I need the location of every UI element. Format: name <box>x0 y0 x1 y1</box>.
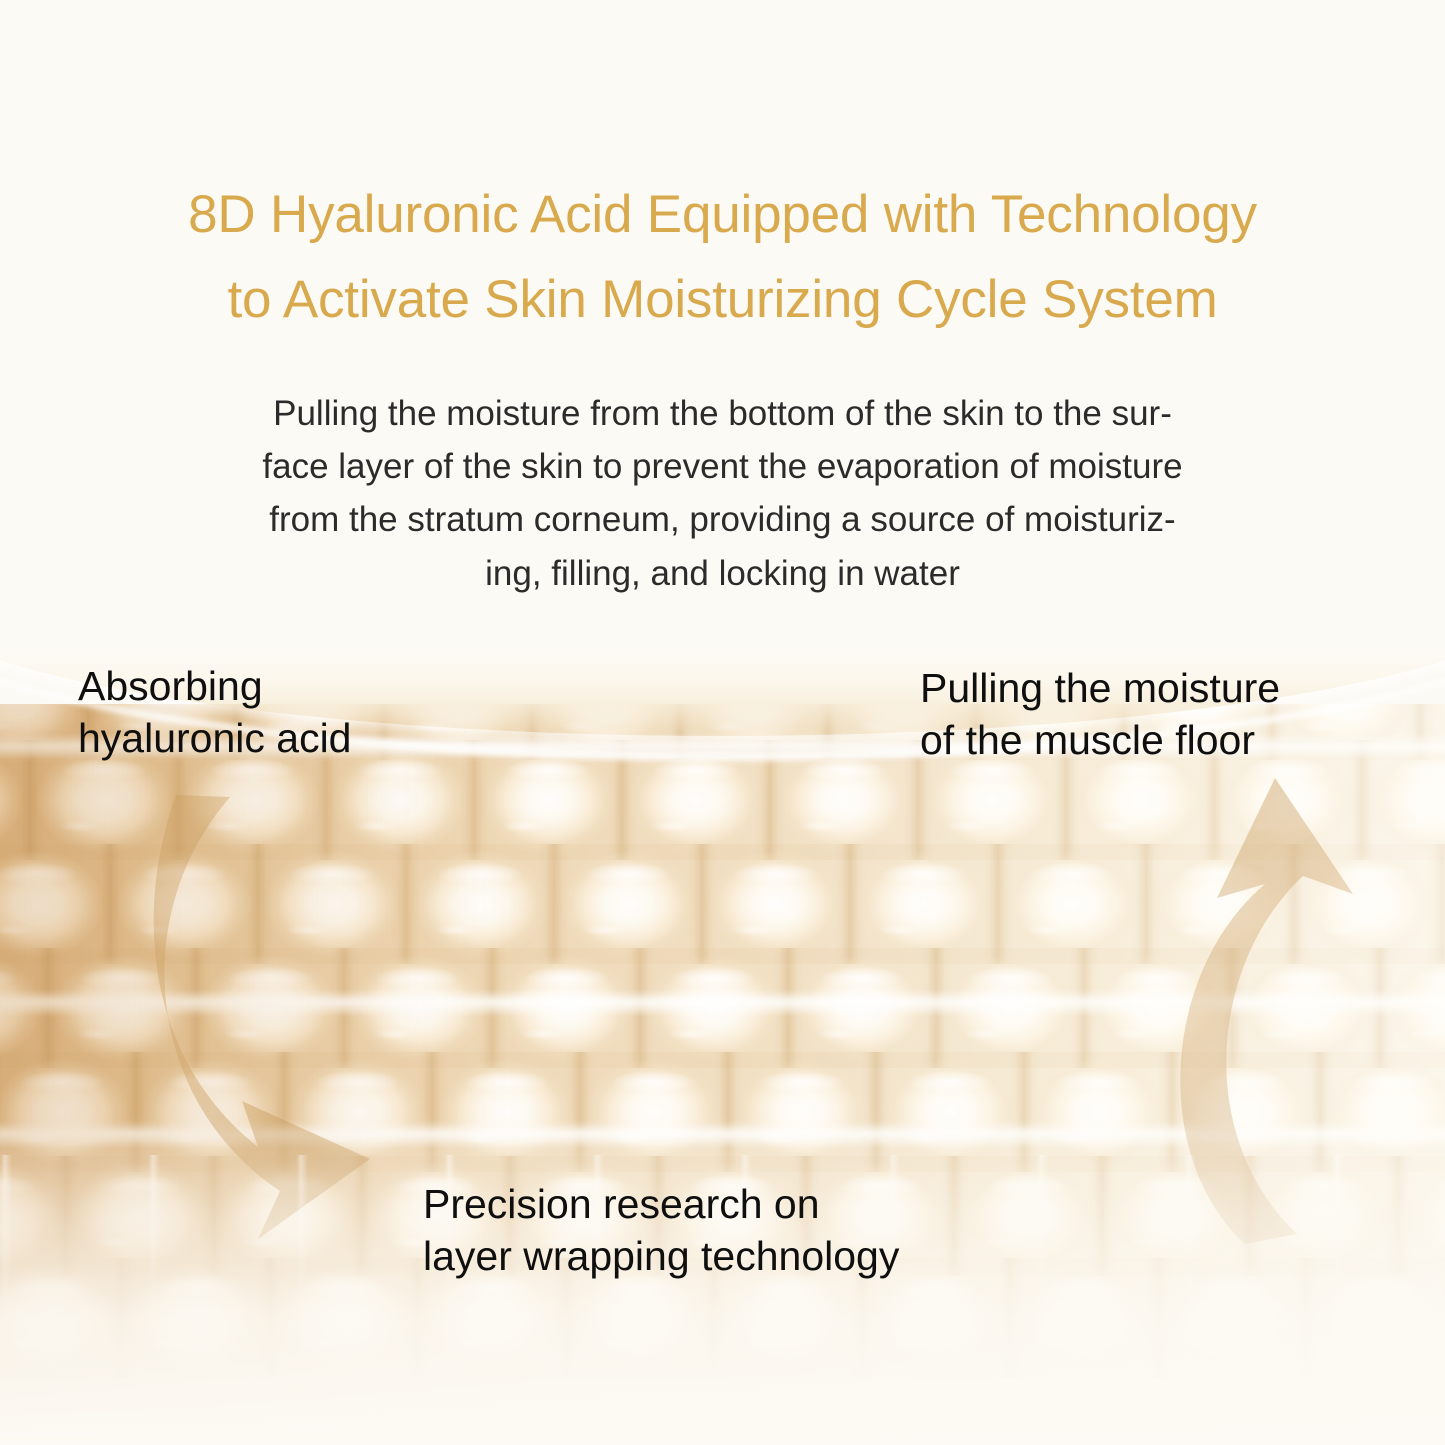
label-precision-research: Precision research on layer wrapping tec… <box>423 1178 899 1283</box>
page-subtitle: Pulling the moisture from the bottom of … <box>120 387 1325 600</box>
label-absorbing-hyaluronic-acid: Absorbing hyaluronic acid <box>78 660 352 765</box>
product-infographic-page: 8D Hyaluronic Acid Equipped with Technol… <box>0 0 1445 1445</box>
page-title: 8D Hyaluronic Acid Equipped with Technol… <box>40 172 1405 344</box>
header-text-block: 8D Hyaluronic Acid Equipped with Technol… <box>0 0 1445 615</box>
label-pulling-moisture: Pulling the moisture of the muscle floor <box>920 662 1280 767</box>
